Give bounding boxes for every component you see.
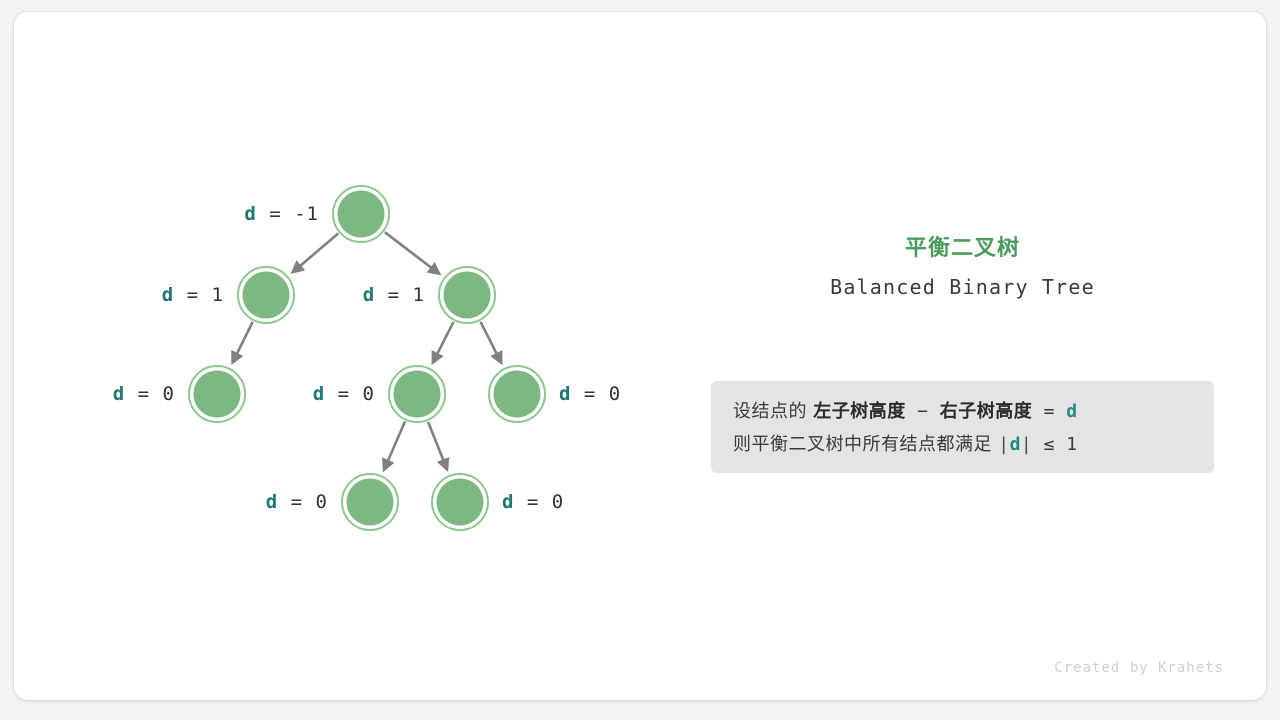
node-label-value: = 0 <box>278 491 328 513</box>
node-balance-label: d = -1 <box>244 203 319 225</box>
node-label-value: = -1 <box>257 203 319 225</box>
diagram-card: d = -1d = 1d = 1d = 0d = 0d = 0d = 0d = … <box>14 12 1266 700</box>
tree-node-circle <box>394 371 441 418</box>
tree-node-circle <box>243 272 290 319</box>
node-label-value: = 1 <box>375 284 425 306</box>
note-var-d-2: d <box>1010 434 1021 455</box>
note-line-2: 则平衡二叉树中所有结点都满足 |d| ≤ 1 <box>733 428 1192 461</box>
definition-note-box: 设结点的 左子树高度 − 右子树高度 = d 则平衡二叉树中所有结点都满足 |d… <box>711 381 1214 473</box>
info-panel: 平衡二叉树 Balanced Binary Tree <box>711 234 1214 301</box>
tree-edge <box>433 322 454 363</box>
node-label-value: = 0 <box>514 491 564 513</box>
note-var-d-1: d <box>1066 401 1077 422</box>
note-bold-left-height: 左子树高度 <box>813 401 906 422</box>
node-label-var: d <box>559 383 571 405</box>
node-balance-label: d = 0 <box>113 383 175 405</box>
tree-node-circle <box>347 479 394 526</box>
node-label-var: d <box>502 491 514 513</box>
node-label-var: d <box>363 284 375 306</box>
node-balance-label: d = 0 <box>313 383 375 405</box>
tree-graphic <box>14 12 1266 700</box>
note-prefix-1: 设结点的 <box>733 401 813 422</box>
tree-node-circle <box>338 191 385 238</box>
node-label-var: d <box>244 203 256 225</box>
node-balance-label: d = 0 <box>502 491 564 513</box>
panel-title: 平衡二叉树 <box>711 234 1214 264</box>
node-balance-label: d = 1 <box>363 284 425 306</box>
tree-node-circle <box>494 371 541 418</box>
node-label-var: d <box>162 284 174 306</box>
abs-bar-close: | <box>1021 434 1032 455</box>
note-leq-operator: ≤ <box>1032 434 1066 455</box>
abs-bar-open: | <box>998 434 1009 455</box>
note-bound-value: 1 <box>1066 434 1077 455</box>
note-prefix-2: 则平衡二叉树中所有结点都满足 <box>733 434 998 455</box>
tree-node-circle <box>444 272 491 319</box>
note-equals-sign: = <box>1032 401 1066 422</box>
tree-edge <box>428 422 447 470</box>
panel-subtitle: Balanced Binary Tree <box>711 273 1214 301</box>
tree-edge <box>293 233 339 272</box>
node-label-value: = 0 <box>125 383 175 405</box>
tree-edge <box>384 422 405 470</box>
node-label-value: = 0 <box>571 383 621 405</box>
node-label-var: d <box>113 383 125 405</box>
node-label-value: = 1 <box>174 284 224 306</box>
node-label-var: d <box>266 491 278 513</box>
node-balance-label: d = 0 <box>266 491 328 513</box>
node-balance-label: d = 1 <box>162 284 224 306</box>
tree-nodes <box>189 186 545 530</box>
credit-text: Created by Krahets <box>1054 660 1224 676</box>
node-label-var: d <box>313 383 325 405</box>
tree-edge <box>481 322 502 363</box>
node-label-value: = 0 <box>325 383 375 405</box>
note-minus-sign: − <box>906 401 940 422</box>
tree-edge <box>385 232 439 274</box>
note-line-1: 设结点的 左子树高度 − 右子树高度 = d <box>733 395 1192 428</box>
note-bold-right-height: 右子树高度 <box>940 401 1033 422</box>
tree-node-circle <box>194 371 241 418</box>
node-balance-label: d = 0 <box>559 383 621 405</box>
tree-edge <box>233 322 253 363</box>
tree-node-circle <box>437 479 484 526</box>
